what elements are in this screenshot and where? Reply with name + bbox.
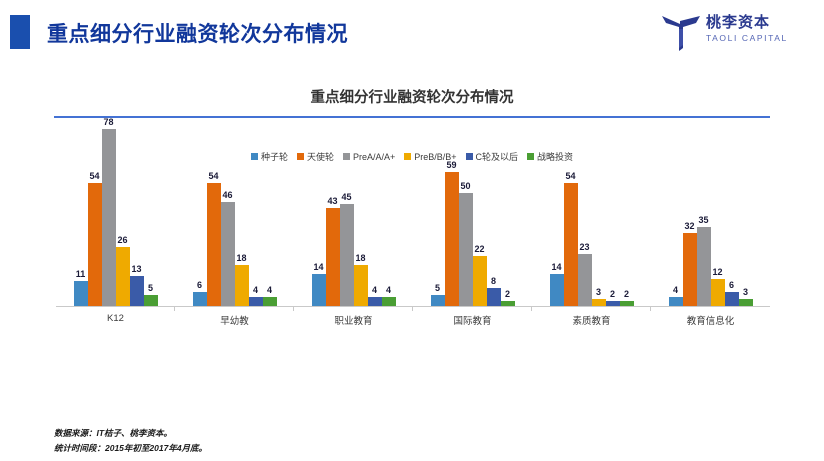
bar-column[interactable]: 4 [249,110,263,306]
page-header: 重点细分行业融资轮次分布情况 桃李资本 TAOLI CAPITAL [0,0,824,62]
bar[interactable] [683,233,697,306]
bar-column[interactable]: 3 [739,110,753,306]
x-axis-tick [175,306,294,311]
bar-column[interactable]: 2 [501,110,515,306]
bar-value-label: 45 [341,192,351,202]
bar-value-label: 4 [267,285,272,295]
bar[interactable] [739,299,753,306]
bar-value-label: 26 [117,235,127,245]
x-axis-tick [56,306,175,311]
x-axis-category-label: 教育信息化 [651,313,770,327]
x-axis-tick [413,306,532,311]
x-axis-category-labels: K12早幼教职业教育国际教育素质教育教育信息化 [56,313,770,327]
bar-column[interactable]: 50 [459,110,473,306]
bar-group-bars: 145423322 [550,110,634,306]
bar-value-label: 4 [253,285,258,295]
bar-group: 432351263 [651,110,770,306]
bar[interactable] [263,297,277,306]
bar[interactable] [382,297,396,306]
bar-value-label: 4 [673,285,678,295]
bar[interactable] [221,202,235,306]
bar-value-label: 22 [474,244,484,254]
header-accent-bar [10,15,30,49]
bar-group: 1443451844 [294,110,413,306]
bar-column[interactable]: 6 [193,110,207,306]
bar[interactable] [550,274,564,306]
bar[interactable] [312,274,326,306]
bar-column[interactable]: 54 [88,110,102,306]
bar-value-label: 23 [579,242,589,252]
bar-value-label: 46 [222,190,232,200]
bar[interactable] [130,276,144,306]
bar[interactable] [578,254,592,306]
bar-value-label: 32 [684,221,694,231]
bar-value-label: 54 [208,171,218,181]
bar-column[interactable]: 43 [326,110,340,306]
bar-value-label: 50 [460,181,470,191]
bar[interactable] [102,129,116,306]
bar[interactable] [368,297,382,306]
bar[interactable] [431,295,445,306]
bar[interactable] [326,208,340,306]
bar-group-bars: 1443451844 [312,110,396,306]
x-axis-category-label: 国际教育 [413,313,532,327]
bar-value-label: 12 [712,267,722,277]
bar-column[interactable]: 45 [340,110,354,306]
bar-column[interactable]: 32 [683,110,697,306]
bar-value-label: 4 [372,285,377,295]
bar[interactable] [697,227,711,306]
bar-value-label: 43 [327,196,337,206]
bar[interactable] [193,292,207,306]
bar-value-label: 2 [505,289,510,299]
bar[interactable] [564,183,578,306]
bar[interactable] [249,297,263,306]
bar[interactable] [235,265,249,306]
bar-column[interactable]: 54 [207,110,221,306]
bar-group: 145423322 [532,110,651,306]
bar[interactable] [340,204,354,306]
x-axis-category-label: K12 [56,313,175,327]
footnote-source: 数据来源：IT桔子、桃李资本。 [54,426,207,441]
logo-name-cn: 桃李资本 [706,14,802,32]
bar-value-label: 54 [89,171,99,181]
bar-column[interactable]: 8 [487,110,501,306]
bar[interactable] [144,295,158,306]
bar-column[interactable]: 59 [445,110,459,306]
bar-column[interactable]: 4 [669,110,683,306]
bar-value-label: 5 [148,283,153,293]
bar-column[interactable]: 12 [711,110,725,306]
bar-group: 11547826135 [56,110,175,306]
bar-group-bars: 559502282 [431,110,515,306]
bar-column[interactable]: 14 [550,110,564,306]
bar[interactable] [669,297,683,306]
bar-value-label: 18 [236,253,246,263]
bar[interactable] [459,193,473,306]
logo-text: 桃李资本 TAOLI CAPITAL [706,14,802,44]
bar[interactable] [354,265,368,306]
bar-group: 559502282 [413,110,532,306]
bar-value-label: 4 [386,285,391,295]
bar-column[interactable]: 5 [144,110,158,306]
bar-value-label: 35 [698,215,708,225]
bar[interactable] [445,172,459,306]
bar[interactable] [711,279,725,306]
x-axis-tick [651,306,770,311]
bar-column[interactable]: 4 [263,110,277,306]
bar-value-label: 3 [596,287,601,297]
bar-group-bars: 654461844 [193,110,277,306]
bar-group-bars: 432351263 [669,110,753,306]
logo-name-en: TAOLI CAPITAL [706,32,802,44]
bar-column[interactable]: 6 [725,110,739,306]
bar-column[interactable]: 23 [578,110,592,306]
bar[interactable] [74,281,88,306]
x-axis-tick [532,306,651,311]
bar[interactable] [473,256,487,306]
bar-column[interactable]: 35 [697,110,711,306]
chart-plot-area: 1154782613565446184414434518445595022821… [56,110,770,306]
bar-value-label: 18 [355,253,365,263]
bar-column[interactable]: 46 [221,110,235,306]
bar-value-label: 14 [551,262,561,272]
bar-value-label: 8 [491,276,496,286]
page-title: 重点细分行业融资轮次分布情况 [47,18,348,48]
x-axis-category-label: 早幼教 [175,313,294,327]
bar[interactable] [487,288,501,306]
bar-value-label: 6 [729,280,734,290]
bar-value-label: 11 [76,269,86,279]
brand-logo: 桃李资本 TAOLI CAPITAL [660,10,800,56]
footnote-period: 统计时间段：2015年初至2017年4月底。 [54,441,207,456]
x-axis-ticks [56,306,770,311]
bar-column[interactable]: 4 [368,110,382,306]
bar-column[interactable]: 13 [130,110,144,306]
bar-column[interactable]: 22 [473,110,487,306]
bar-column[interactable]: 54 [564,110,578,306]
bar[interactable] [88,183,102,306]
x-axis-tick [294,306,413,311]
bar[interactable] [592,299,606,306]
bar-value-label: 2 [610,289,615,299]
bar-column[interactable]: 26 [116,110,130,306]
bar-value-label: 13 [131,264,141,274]
bar-column[interactable]: 2 [606,110,620,306]
bar-column[interactable]: 5 [431,110,445,306]
bar-column[interactable]: 14 [312,110,326,306]
bar-value-label: 6 [197,280,202,290]
x-axis-category-label: 素质教育 [532,313,651,327]
bar-column[interactable]: 18 [354,110,368,306]
bar-column[interactable]: 78 [102,110,116,306]
bar-value-label: 59 [446,160,456,170]
bar-group: 654461844 [175,110,294,306]
footnotes: 数据来源：IT桔子、桃李资本。 统计时间段：2015年初至2017年4月底。 [54,426,207,456]
bar-column[interactable]: 2 [620,110,634,306]
bar-value-label: 54 [565,171,575,181]
taoli-logo-mark-icon [660,12,702,52]
bar[interactable] [725,292,739,306]
bar-value-label: 78 [103,117,113,127]
chart-title: 重点细分行业融资轮次分布情况 [0,86,824,107]
bar-value-label: 14 [313,262,323,272]
bar-column[interactable]: 4 [382,110,396,306]
bar[interactable] [207,183,221,306]
bar-column[interactable]: 18 [235,110,249,306]
bar-column[interactable]: 11 [74,110,88,306]
bar-group-bars: 11547826135 [74,110,158,306]
bar-value-label: 3 [743,287,748,297]
bar-value-label: 2 [624,289,629,299]
bar-column[interactable]: 3 [592,110,606,306]
x-axis-category-label: 职业教育 [294,313,413,327]
bar[interactable] [116,247,130,306]
bar-value-label: 5 [435,283,440,293]
